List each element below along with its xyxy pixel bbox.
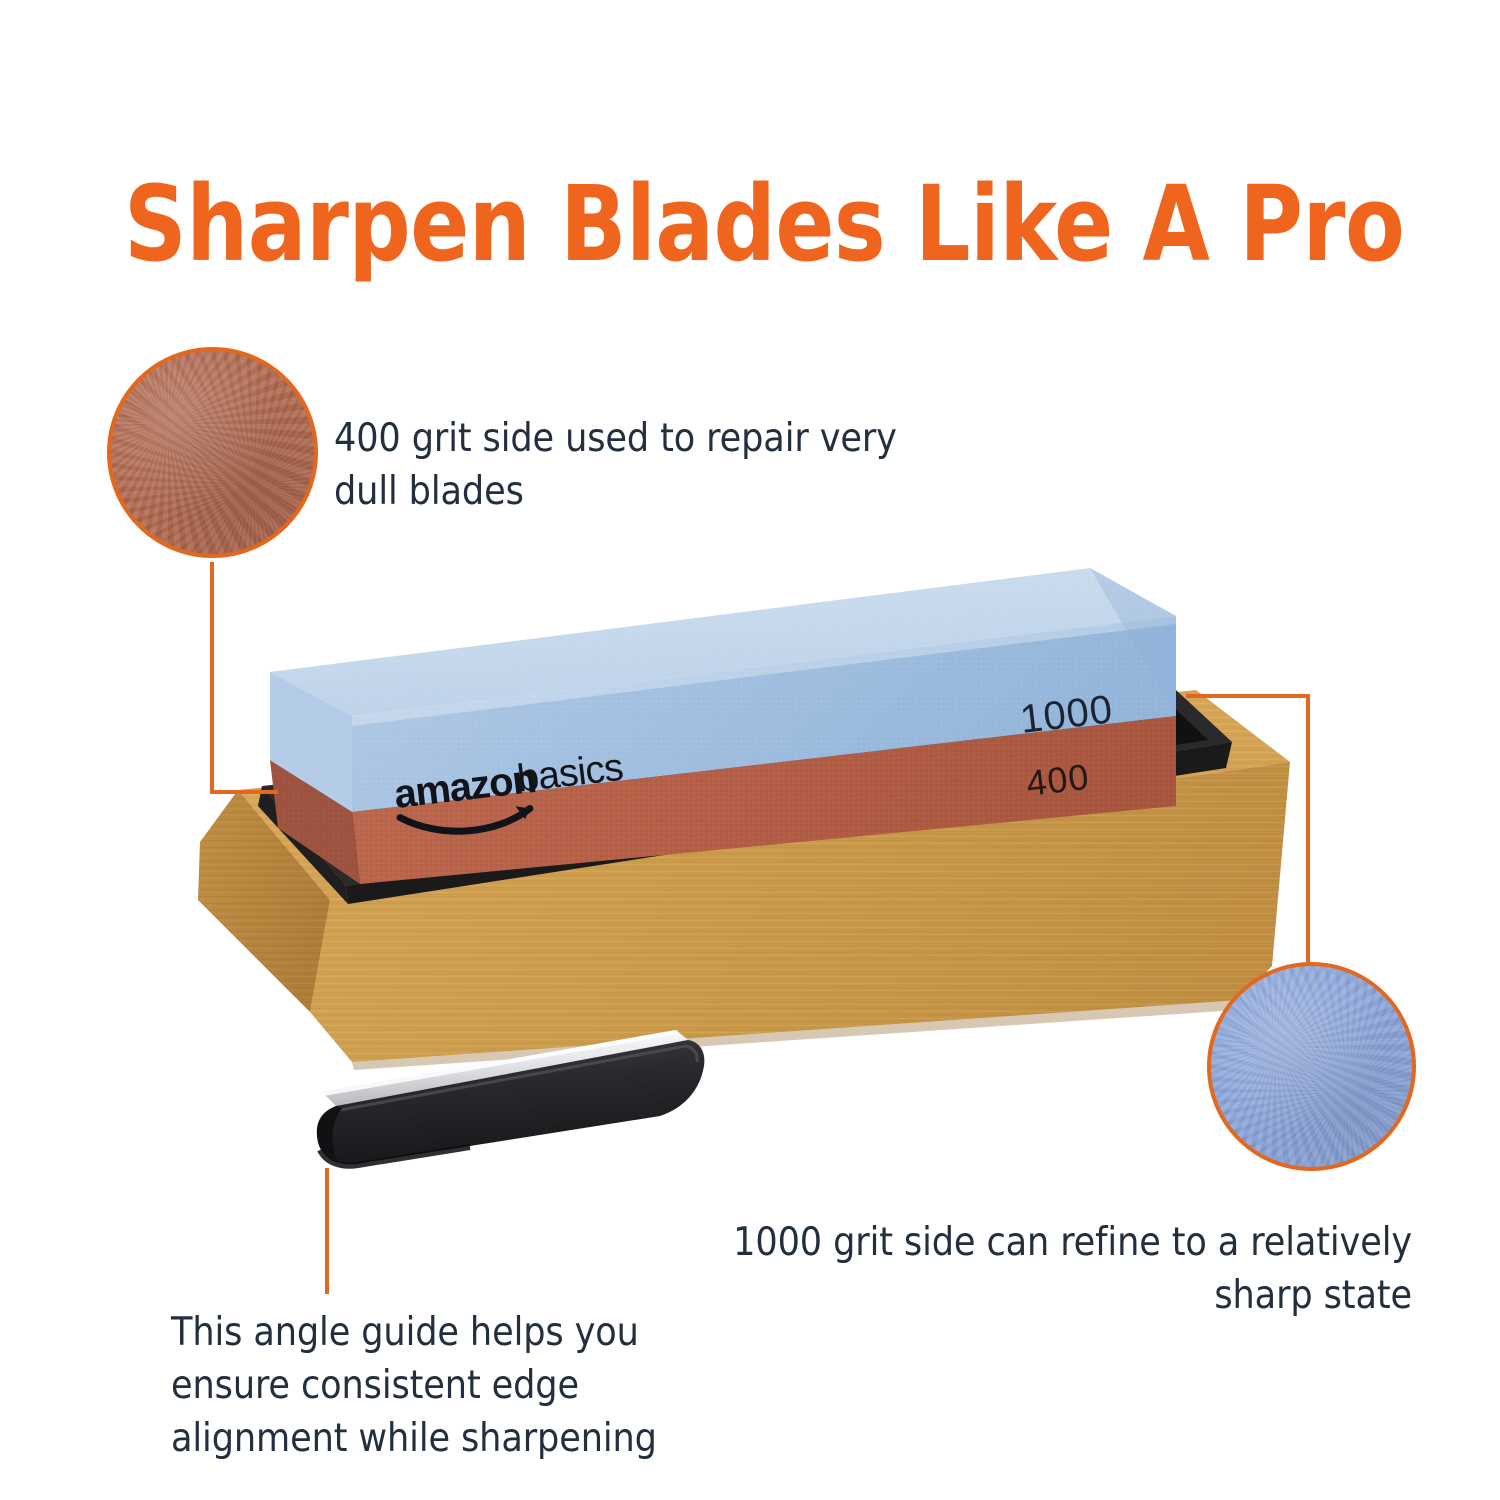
rubber-stone-holder [258,690,1232,904]
leader-line-1000-vertical [1306,694,1310,970]
callout-text-angle-guide: This angle guide helps you ensure consis… [171,1306,731,1465]
callout-line: dull blades [334,465,974,518]
callout-line: alignment while sharpening [171,1412,731,1465]
callout-text-1000-grit: 1000 grit side can refine to a relativel… [652,1216,1412,1322]
svg-text:400: 400 [1024,756,1091,804]
callout-line: 400 grit side used to repair very [334,412,974,465]
stone-grit-labels: 1000 400 [1018,687,1116,804]
swatch-1000-grit-icon [1207,962,1416,1171]
infographic-canvas: Sharpen Blades Like A Pro [0,0,1500,1500]
angle-guide [317,1030,705,1166]
svg-text:1000: 1000 [1018,687,1116,742]
sharpening-stone [270,568,1176,884]
amazonbasics-logo: amazon basics [392,746,628,839]
callout-line: sharp state [652,1269,1412,1322]
svg-text:basics: basics [515,746,625,801]
leader-line-angle-guide-vertical [325,1168,329,1294]
leader-line-400-vertical [210,562,214,794]
bamboo-base [198,690,1290,1070]
leader-line-400-horizontal [210,790,278,794]
callout-line: 1000 grit side can refine to a relativel… [652,1216,1412,1269]
svg-text:amazon: amazon [392,757,538,817]
callout-line: ensure consistent edge [171,1359,731,1412]
callout-text-400-grit: 400 grit side used to repair very dull b… [334,412,974,518]
leader-line-1000-horizontal [1186,694,1310,698]
page-title: Sharpen Blades Like A Pro [124,168,1324,280]
swatch-400-grit-icon [107,347,318,558]
callout-line: This angle guide helps you [171,1306,731,1359]
